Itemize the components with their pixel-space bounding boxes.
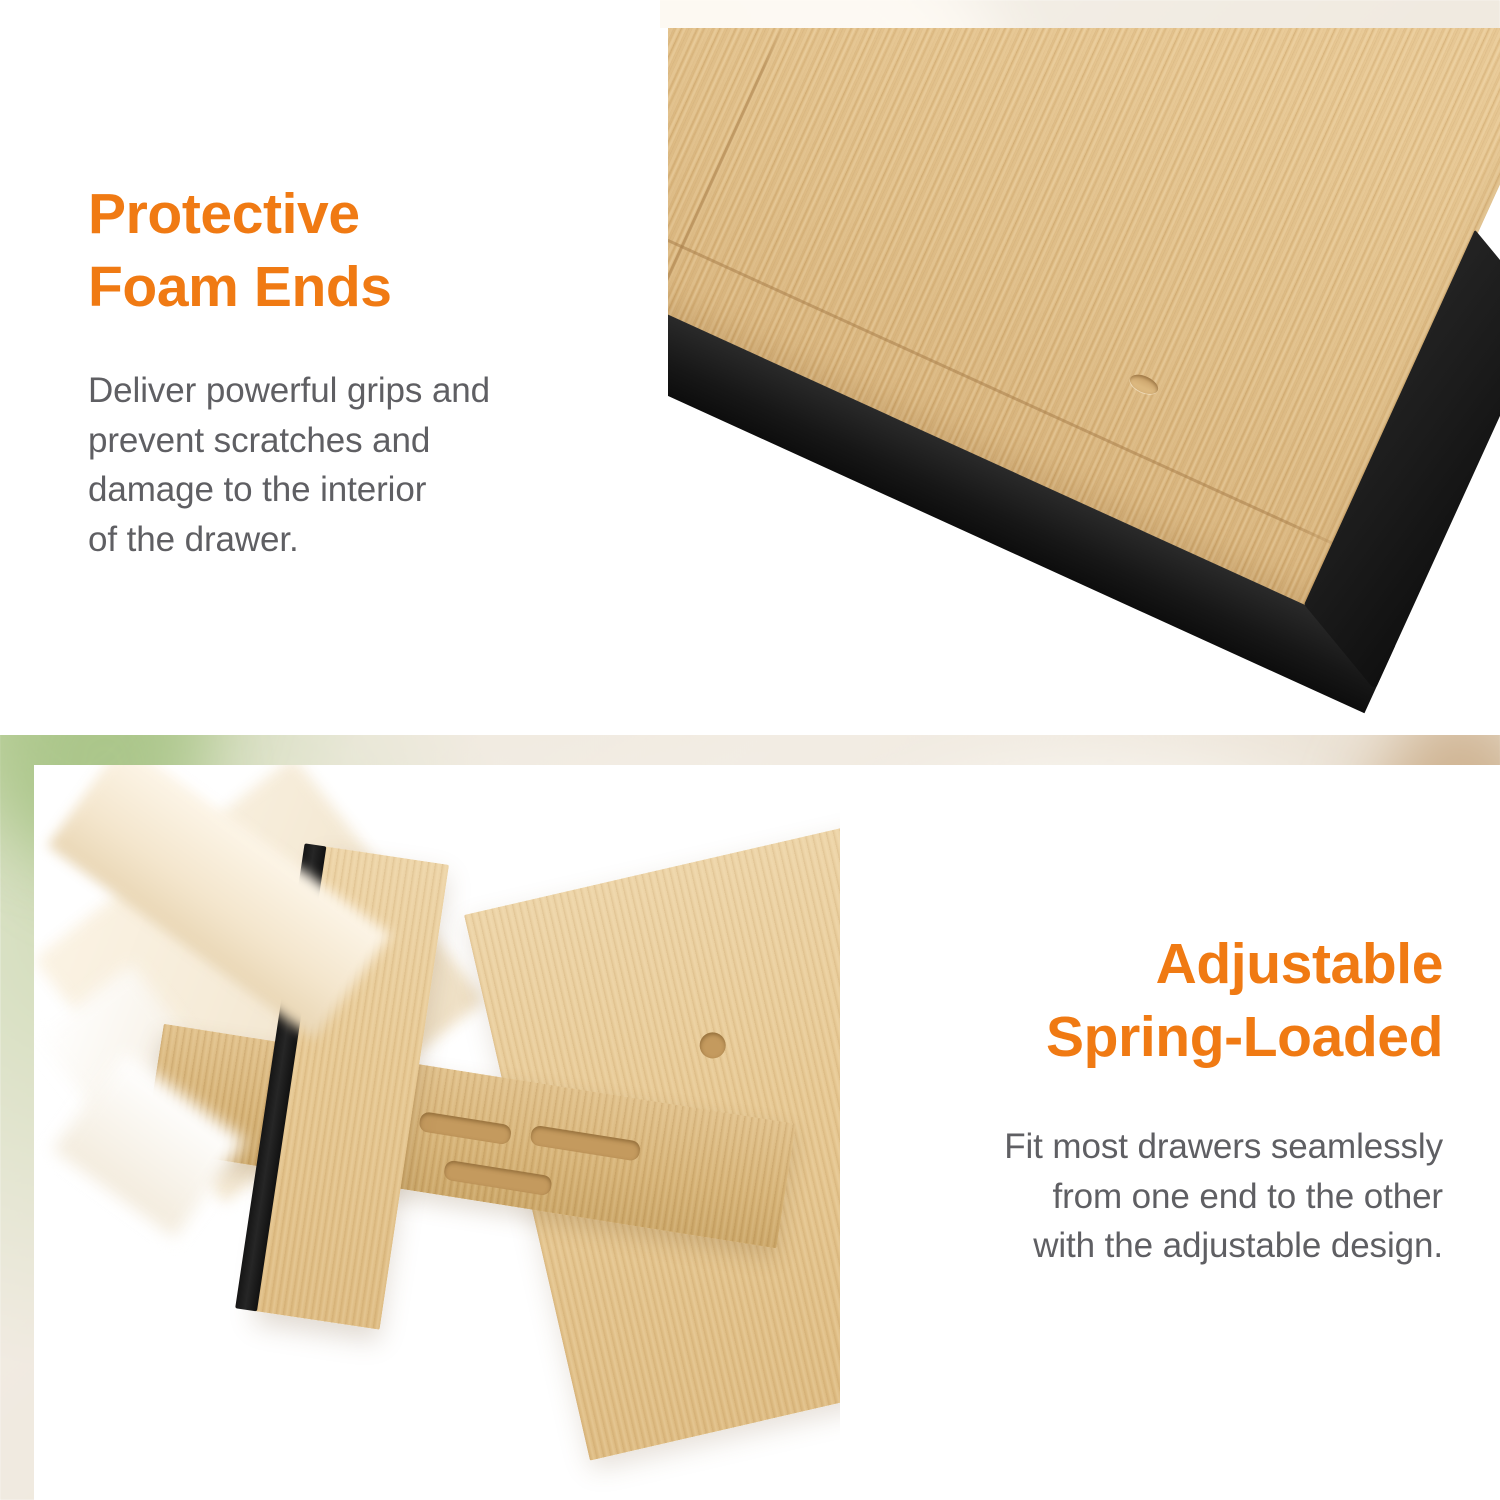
photo-edge-mask-left [658, 28, 668, 735]
feature-photo-adjustable-parts [34, 765, 840, 1500]
feature-headline-adjustable: Adjustable Spring-Loaded [903, 928, 1443, 1074]
divider-parts-photo-scene [34, 765, 840, 1500]
product-feature-infographic: Protective Foam Ends Deliver powerful gr… [0, 0, 1500, 1500]
bamboo-board [658, 28, 1500, 608]
body-line-1: Fit most drawers seamlessly [903, 1122, 1443, 1172]
feature-headline-foam-ends: Protective Foam Ends [88, 178, 608, 324]
body-line-2: prevent scratches and [88, 416, 608, 466]
headline-line-2: Spring-Loaded [903, 1001, 1443, 1074]
headline-line-1: Adjustable [903, 928, 1443, 1001]
feature-photo-foam-ends [658, 28, 1500, 735]
feature-text-adjustable: Adjustable Spring-Loaded Fit most drawer… [903, 928, 1443, 1271]
headline-line-1: Protective [88, 178, 608, 251]
feature-text-foam-ends: Protective Foam Ends Deliver powerful gr… [88, 178, 608, 565]
bamboo-board-hole [1127, 371, 1161, 398]
body-line-3: damage to the interior [88, 465, 608, 515]
feature-body-adjustable: Fit most drawers seamlessly from one end… [903, 1122, 1443, 1271]
body-line-1: Deliver powerful grips and [88, 366, 608, 416]
bamboo-board-photo-scene [658, 28, 1500, 735]
body-line-4: of the drawer. [88, 515, 608, 565]
body-line-2: from one end to the other [903, 1172, 1443, 1222]
bamboo-board-seam-vertical [658, 28, 945, 311]
body-line-3: with the adjustable design. [903, 1221, 1443, 1271]
headline-line-2: Foam Ends [88, 251, 608, 324]
feature-body-foam-ends: Deliver powerful grips and prevent scrat… [88, 366, 608, 565]
